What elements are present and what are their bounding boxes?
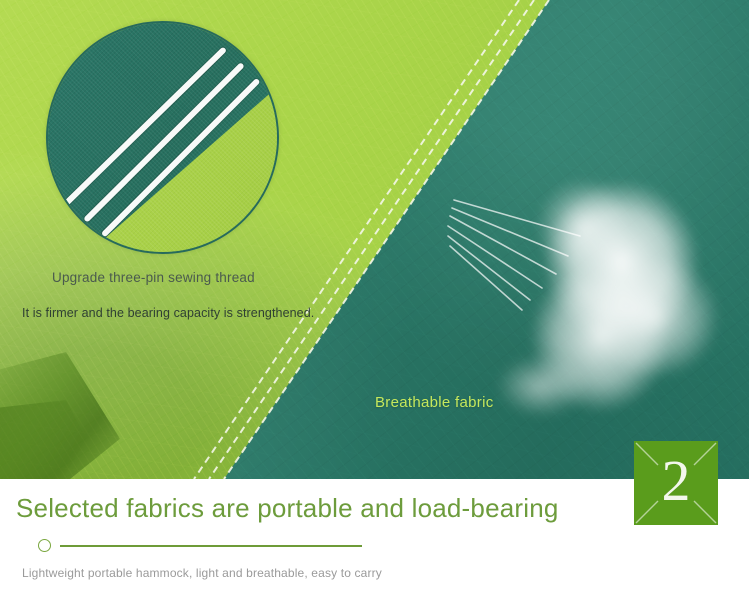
- step-number-badge: 2: [634, 441, 718, 525]
- product-photo: Upgrade three-pin sewing thread It is fi…: [0, 0, 749, 479]
- badge-number: 2: [634, 441, 718, 525]
- inset-three-pin-threads: [48, 23, 277, 252]
- caption-upgrade-thread: Upgrade three-pin sewing thread: [52, 270, 255, 285]
- spray-lines-icon: [430, 180, 690, 340]
- divider: [38, 539, 362, 552]
- caption-firmer-bearing: It is firmer and the bearing capacity is…: [22, 306, 314, 320]
- caption-breathable-fabric: Breathable fabric: [375, 394, 494, 411]
- divider-circle-icon: [38, 539, 51, 552]
- page-subtitle: Lightweight portable hammock, light and …: [22, 566, 382, 580]
- magnified-stitch-inset: [46, 21, 279, 254]
- divider-line: [60, 545, 362, 547]
- promo-banner: Upgrade three-pin sewing thread It is fi…: [0, 0, 749, 594]
- page-title: Selected fabrics are portable and load-b…: [16, 493, 559, 524]
